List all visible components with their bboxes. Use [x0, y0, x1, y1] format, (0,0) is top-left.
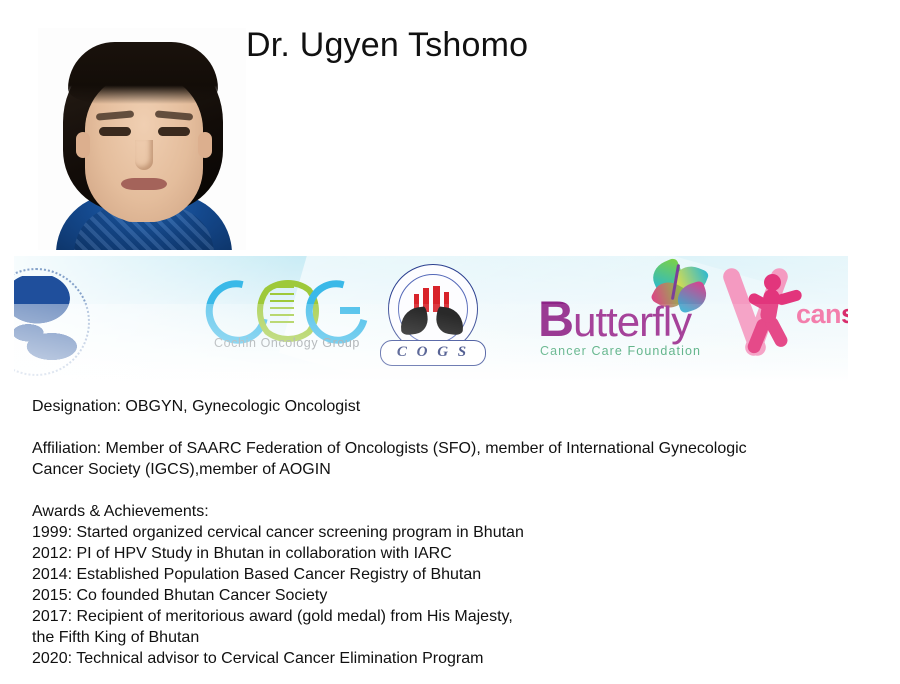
logo-aogin-india: GIN IA: [14, 256, 128, 382]
designation-line: Designation: OBGYN, Gynecologic Oncologi…: [32, 396, 872, 417]
text-spacer-2: [32, 480, 872, 501]
cog-letters-icon: [200, 280, 374, 332]
cog-subtitle: Cochin Oncology Group: [200, 336, 374, 350]
award-item: 2020: Technical advisor to Cervical Canc…: [32, 648, 872, 669]
award-item: 2017: Recipient of meritorious award (go…: [32, 606, 872, 627]
portrait-ear-left: [76, 132, 90, 158]
portrait-photo: [38, 28, 246, 250]
cog-dna-helix-icon: [256, 280, 308, 330]
page-title: Dr. Ugyen Tshomo: [246, 24, 528, 66]
portrait-mouth: [121, 178, 167, 190]
butterfly-word-initial: B: [538, 291, 573, 347]
cogs-family-figures-icon: [412, 286, 454, 312]
cog-letter-g-bar-icon: [340, 307, 360, 314]
canserve-wordmark: canserve: [796, 300, 848, 328]
butterfly-word-rest: utterfly: [573, 298, 691, 345]
award-item: 2015: Co founded Bhutan Cancer Society: [32, 585, 872, 606]
portrait-ear-right: [198, 132, 212, 158]
awards-heading: Awards & Achievements:: [32, 501, 872, 522]
aogin-map-icon: [14, 276, 80, 362]
runner-torso-icon: [759, 288, 781, 324]
logo-canserve: canserve: [714, 256, 848, 382]
awareness-ribbon-left-icon: [721, 266, 768, 358]
award-item: 2012: PI of HPV Study in Bhutan in colla…: [32, 543, 872, 564]
portrait-nose: [135, 140, 153, 170]
portrait-eye-right: [158, 127, 190, 136]
butterfly-subtitle: Cancer Care Foundation: [540, 344, 701, 358]
cogs-inner-circle-icon: [398, 274, 468, 344]
portrait-eye-left: [99, 127, 131, 136]
portrait-fringe: [68, 42, 218, 104]
cogs-acronym: C O G S: [380, 340, 486, 366]
canserve-word-serve: serve: [841, 299, 848, 329]
award-item: 1999: Started organized cervical cancer …: [32, 522, 872, 543]
logo-cochin-oncology-group: Cochin Oncology Group: [200, 256, 374, 382]
award-item: 2014: Established Population Based Cance…: [32, 564, 872, 585]
logo-banner: GIN IA Cochin Oncology Group C O G S: [14, 256, 848, 382]
text-spacer-1: [32, 417, 872, 438]
canserve-word-can: can: [796, 299, 841, 329]
runner-head-icon: [764, 274, 781, 291]
cogs-hand-right-icon: [434, 306, 465, 336]
cogs-hand-left-icon: [398, 306, 429, 336]
runner-leg-back-icon: [746, 317, 772, 355]
affiliation-line-1: Affiliation: Member of SAARC Federation …: [32, 438, 872, 459]
profile-details: Designation: OBGYN, Gynecologic Oncologi…: [32, 396, 872, 669]
affiliation-line-2: Cancer Society (IGCS),member of AOGIN: [32, 459, 872, 480]
header-area: Dr. Ugyen Tshomo: [0, 0, 900, 255]
runner-leg-front-icon: [763, 315, 790, 349]
logo-cogs: C O G S: [374, 256, 490, 382]
cog-dna-rungs-icon: [270, 286, 294, 324]
award-item-continuation: the Fifth King of Bhutan: [32, 627, 872, 648]
butterfly-wordmark: Butterfly: [538, 298, 691, 343]
logo-butterfly-cancer-care-foundation: Butterfly Cancer Care Foundation: [524, 256, 720, 382]
